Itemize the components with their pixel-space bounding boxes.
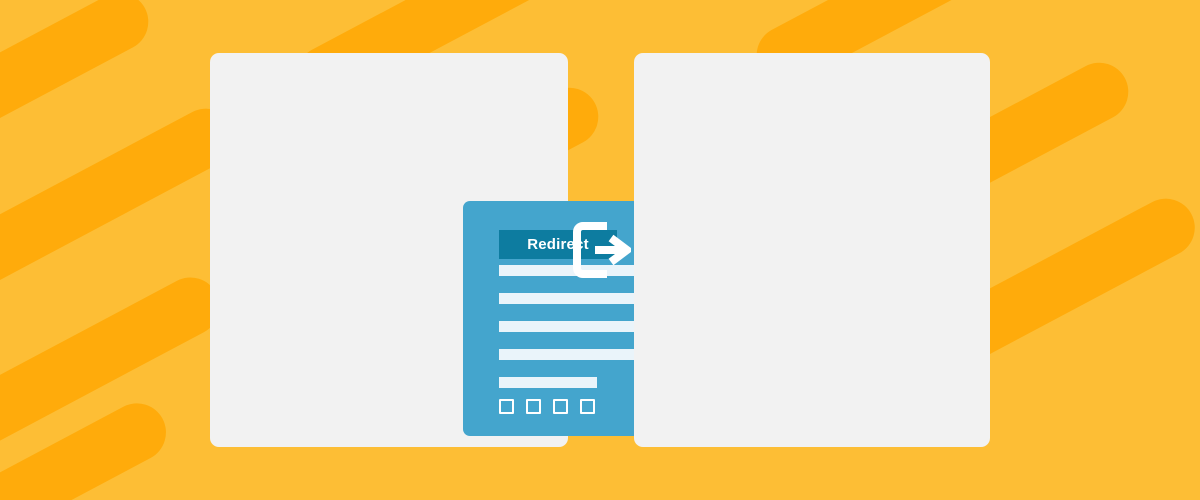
source-card-checkbox[interactable] bbox=[580, 399, 595, 414]
background-stripe bbox=[0, 393, 176, 500]
source-card-checkbox[interactable] bbox=[526, 399, 541, 414]
illustration-canvas: Redirect bbox=[0, 0, 1200, 500]
destination-panel bbox=[634, 53, 990, 447]
source-card-checkbox[interactable] bbox=[499, 399, 514, 414]
background-stripe bbox=[0, 98, 245, 304]
background-stripe bbox=[0, 267, 230, 454]
background-stripe bbox=[0, 0, 158, 175]
exit-icon bbox=[573, 222, 631, 278]
source-card-line bbox=[499, 377, 597, 388]
source-card-checkbox[interactable] bbox=[553, 399, 568, 414]
source-panel: Redirect bbox=[210, 53, 568, 447]
